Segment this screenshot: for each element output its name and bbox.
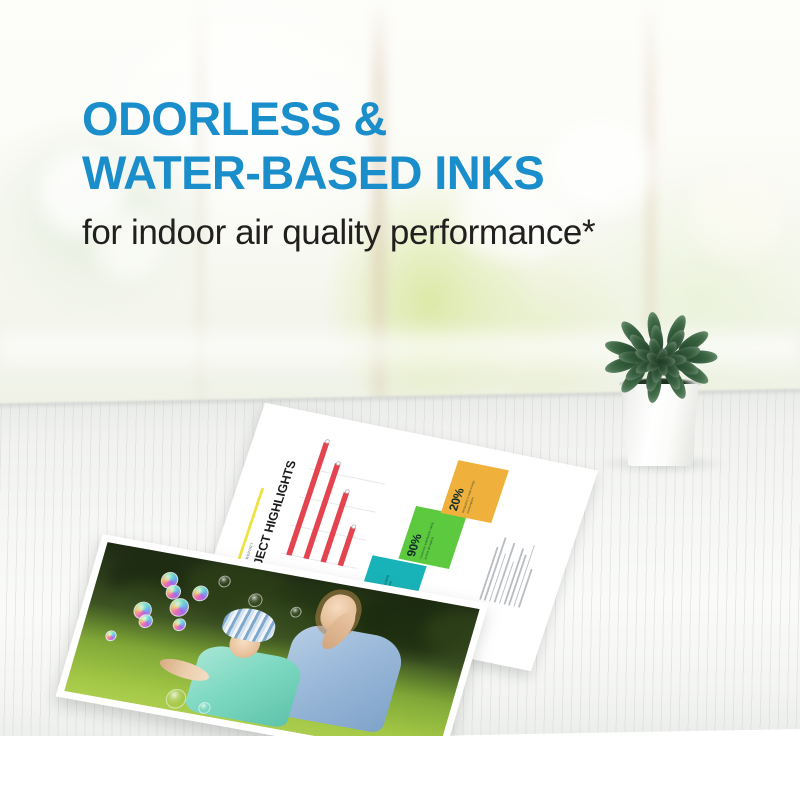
photo-soap-bubble [171, 617, 187, 632]
chart-bar [338, 527, 356, 566]
footnote-band: * Up to A3+ page size HP printing system… [0, 736, 800, 800]
chart-bar-endpoint [344, 489, 350, 494]
chart-bar [303, 464, 340, 560]
brochure-stat-box: 20%Reduction in total energy consumption [441, 460, 509, 523]
photo-soap-bubble [104, 629, 118, 642]
headline-line-2: WATER-BASED INKS [82, 146, 722, 200]
chart-bar-endpoint [351, 524, 357, 529]
marketing-banner: 2021 ANNUAL REPORT PROJECT HIGHLIGHTS 30… [0, 0, 800, 800]
plant-pot [616, 384, 704, 466]
subheadline: for indoor air quality performance* [82, 212, 595, 254]
chart-bar-endpoint [336, 461, 342, 466]
succulent-plant [596, 306, 726, 466]
chart-gridline [309, 469, 385, 485]
headline: ODORLESS & WATER-BASED INKS [82, 92, 722, 200]
headline-line-1: ODORLESS & [82, 92, 722, 146]
brochure-text-line [479, 547, 498, 600]
